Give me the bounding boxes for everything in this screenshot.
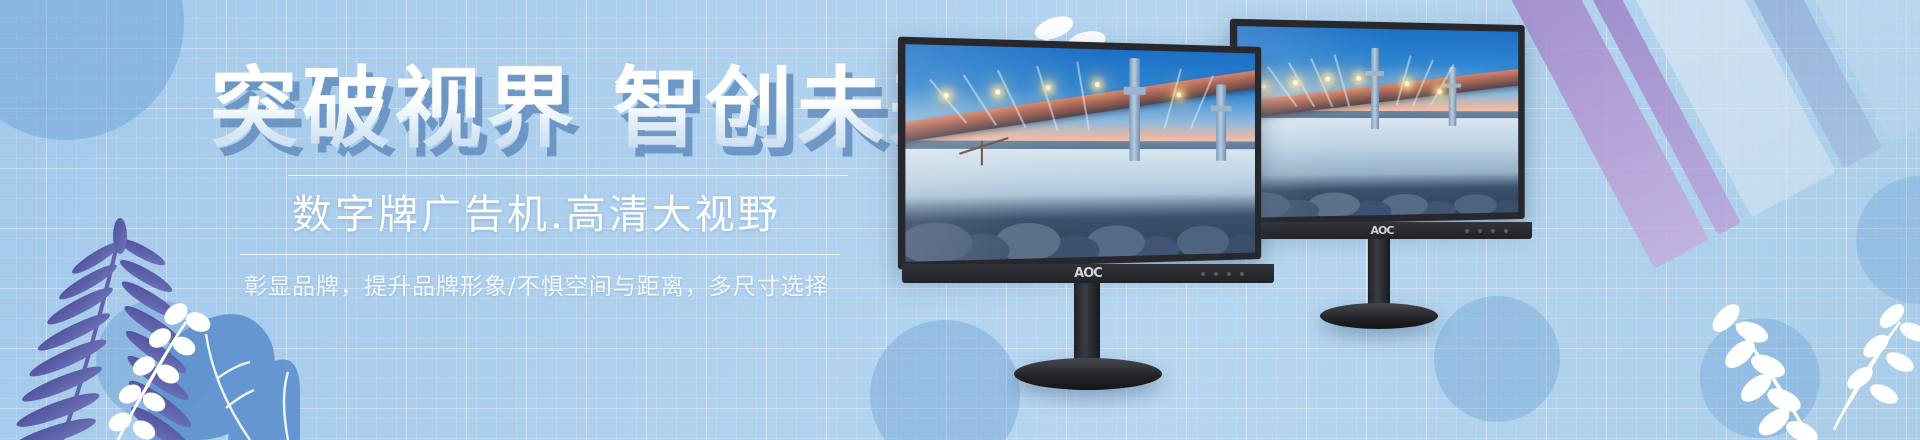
product-stage: AOC: [880, 0, 1920, 440]
monitor-bezel-chin: AOC: [1232, 222, 1532, 239]
subtitle: 数字牌广告机.高清大视野: [292, 182, 910, 240]
monitor-stand-base: [1014, 358, 1162, 390]
fern-leaf: [10, 218, 198, 440]
promo-banner: 突破视界 智创未来 数字牌广告机.高清大视野 彰显品牌，提升品牌形象/不惧空间与…: [0, 0, 1920, 440]
description: 彰显品牌，提升品牌形象/不惧空间与距离，多尺寸选择: [244, 267, 910, 301]
monitor-front: AOC: [902, 42, 1274, 264]
divider-rule: [288, 175, 848, 176]
monitor-stand-neck: [1368, 239, 1390, 309]
screen-photo-bridge: [1237, 26, 1518, 218]
copy-block: 突破视界 智创未来 数字牌广告机.高清大视野 彰显品牌，提升品牌形象/不惧空间与…: [210, 62, 910, 301]
screen-photo-bridge: [905, 44, 1255, 262]
monitor-stand-base: [1320, 303, 1438, 329]
aoc-logo: AOC: [1074, 266, 1102, 281]
monitor-screen: [1230, 19, 1525, 226]
monitor-bezel-chin: AOC: [902, 264, 1274, 283]
monitor-stand-neck: [1074, 283, 1100, 365]
circle-shape: [0, 0, 184, 140]
monitor-screen: [898, 37, 1261, 270]
divider-rule: [240, 254, 840, 255]
headline: 突破视界 智创未来: [210, 62, 910, 155]
monitor-osd-buttons[interactable]: [1465, 229, 1508, 233]
monitor-osd-buttons[interactable]: [1201, 272, 1244, 276]
aoc-logo: AOC: [1371, 224, 1394, 237]
monitor-rear: AOC: [1232, 22, 1532, 222]
